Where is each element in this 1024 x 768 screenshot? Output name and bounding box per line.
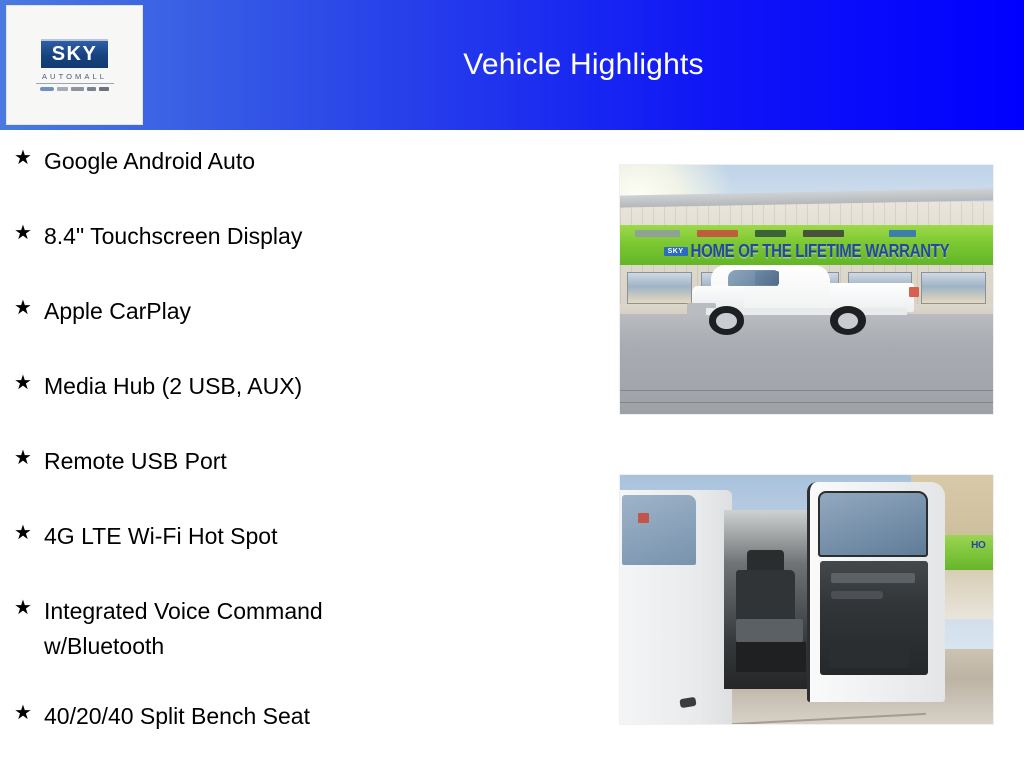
ford-brand-icon [40,87,54,91]
ram-banner-icon [803,230,844,236]
front-wheel [709,306,745,334]
list-item: ★ Google Android Auto [0,144,600,184]
pavement-seam [620,390,993,391]
feature-label: Remote USB Port [44,444,227,479]
window-pane [627,272,691,304]
door-grab-handle [831,591,883,599]
window-pane [921,272,985,304]
star-icon: ★ [14,519,44,547]
star-icon: ★ [14,594,44,622]
rear-door-panel [820,561,928,675]
list-item: ★ Media Hub (2 USB, AUX) [0,369,600,409]
vehicle-photo-gallery: SKY HOME OF THE LIFETIME WARRANTY [620,165,993,724]
star-icon: ★ [14,699,44,727]
star-icon: ★ [14,444,44,472]
side-marker-light [638,513,649,522]
rear-door-glass [818,491,929,557]
list-item: ★ 40/20/40 Split Bench Seat [0,699,600,739]
page-title: Vehicle Highlights [143,0,1024,130]
banner-sky-badge: SKY [664,247,688,256]
pickup-truck [687,265,926,340]
door-handle [680,697,697,709]
star-icon: ★ [14,294,44,322]
chrysler-banner-icon [635,230,680,236]
rear-wheel [830,306,866,334]
feature-list: ★ Google Android Auto ★ 8.4" Touchscreen… [0,144,600,768]
feature-label: Google Android Auto [44,144,255,179]
list-item: ★ 4G LTE Wi-Fi Hot Spot [0,519,600,559]
door-trim-insert [831,573,915,583]
feature-label: 8.4" Touchscreen Display [44,219,302,254]
taillight [909,287,919,297]
front-door-exterior [620,490,732,724]
front-door-glass [622,495,696,565]
list-item: ★ Integrated Voice Command w/Bluetooth [0,594,600,664]
feature-label: Media Hub (2 USB, AUX) [44,369,302,404]
jeep-brand-icon [87,87,96,91]
star-icon: ★ [14,219,44,247]
dealership-banner: SKY HOME OF THE LIFETIME WARRANTY [620,225,993,265]
dodge-brand-icon [71,87,84,91]
sky-banner-icon [889,230,916,236]
vehicle-highlights-slide: SKY AUTOMALL Vehicle Highlights ★ Googl [0,0,1024,768]
star-icon: ★ [14,369,44,397]
sky-logo-text: SKY [52,44,98,64]
ram-brand-icon [99,87,109,91]
list-item: ★ 8.4" Touchscreen Display [0,219,600,259]
pavement-seam [620,402,993,403]
banner-text-row: SKY HOME OF THE LIFETIME WARRANTY [620,240,993,263]
floor-mat [736,642,807,672]
chrysler-brand-icon [57,87,68,91]
dealer-logo[interactable]: SKY AUTOMALL [6,5,143,125]
slide-body: ★ Google Android Auto ★ 8.4" Touchscreen… [0,130,1024,768]
feature-label: Integrated Voice Command w/Bluetooth [44,594,444,664]
vehicle-photo-exterior[interactable]: SKY HOME OF THE LIFETIME WARRANTY [620,165,993,414]
background-banner-text: HO [971,540,985,551]
door-storage-pocket [829,639,909,669]
jeep-banner-icon [755,230,786,236]
rear-door-open [807,482,945,701]
bench-seat-back [736,570,796,625]
feature-label: 4G LTE Wi-Fi Hot Spot [44,519,277,554]
rear-door-glass [755,271,779,285]
bench-seat-base [736,619,803,641]
dodge-banner-icon [697,230,738,236]
sky-logo-badge: SKY [41,39,109,68]
banner-oem-logos [635,226,978,240]
oem-brand-logos [40,87,109,91]
star-icon: ★ [14,144,44,172]
feature-label: 40/20/40 Split Bench Seat [44,699,310,734]
automall-logo-text: AUTOMALL [42,72,107,81]
vehicle-photo-interior[interactable]: HO [620,475,993,724]
list-item: ★ Apple CarPlay [0,294,600,334]
slide-header: SKY AUTOMALL Vehicle Highlights [0,0,1024,130]
banner-warranty-text: HOME OF THE LIFETIME WARRANTY [691,241,950,262]
logo-inner: SKY AUTOMALL [36,39,114,91]
logo-divider [36,83,114,84]
pavement-crack [732,712,926,724]
list-item: ★ Remote USB Port [0,444,600,484]
feature-label: Apple CarPlay [44,294,191,329]
